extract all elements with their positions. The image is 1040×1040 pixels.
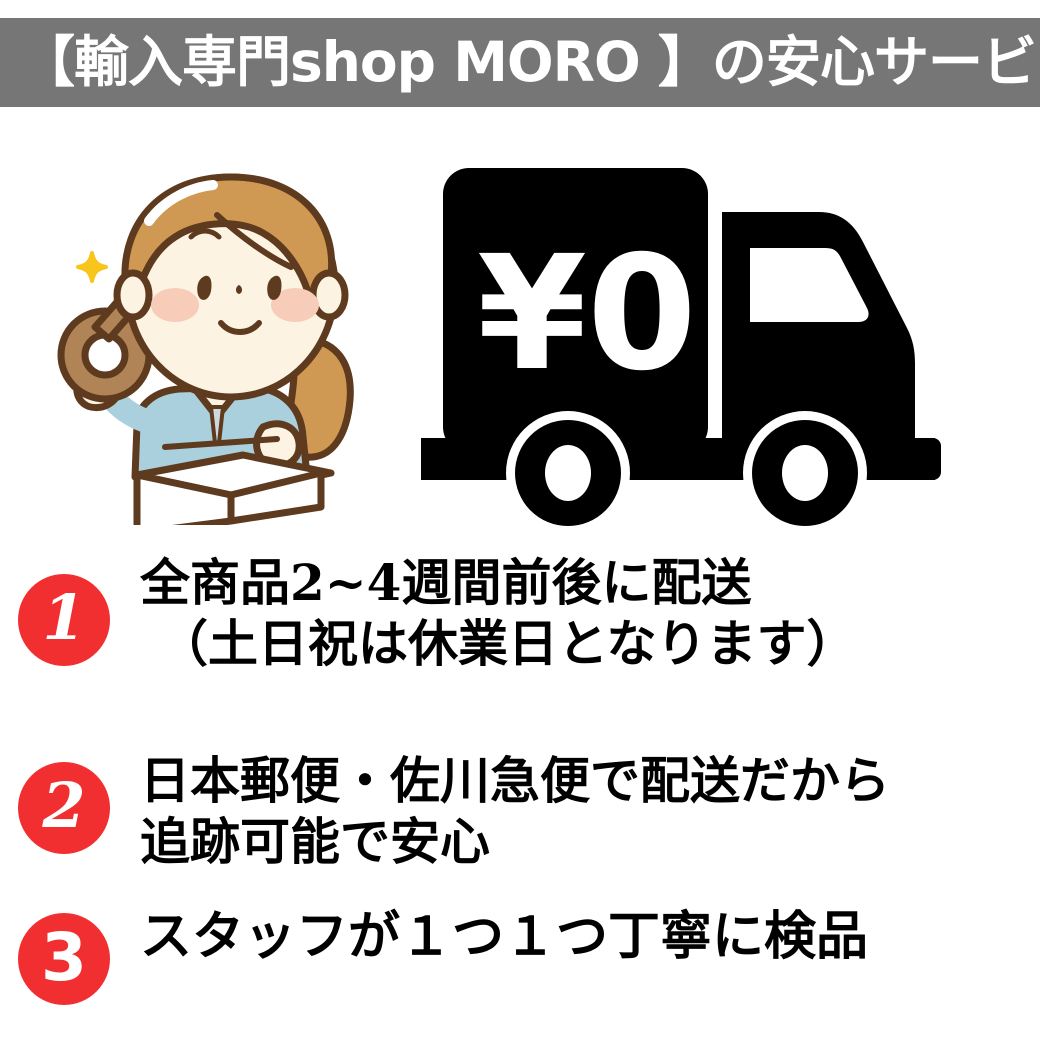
- feature-badge-1: 1: [18, 574, 110, 666]
- badge-number-2: 2: [42, 775, 85, 837]
- magnifier-lens: [85, 335, 125, 375]
- header-banner: 【輸入専門shop MORO 】の安心サービス: [0, 18, 1040, 107]
- feature-line: スタッフが１つ１つ丁寧に検品: [140, 905, 1030, 968]
- feature-text-2: 日本郵便・佐川急便で配送だから 追跡可能で安心: [140, 750, 1030, 872]
- feature-text-3: スタッフが１つ１つ丁寧に検品: [140, 905, 1030, 968]
- staff-illustration: [45, 155, 405, 525]
- feature-badge-2: 2: [18, 762, 110, 854]
- left-ear: [117, 273, 149, 317]
- feature-text-1: 全商品2~4週間前後に配送 （土日祝は休業日となります）: [140, 552, 1030, 674]
- truck-price-label: ¥0: [477, 222, 697, 406]
- badge-number-1: 1: [42, 587, 85, 649]
- front-hub: [782, 445, 828, 501]
- staff-illustration-svg: [45, 155, 405, 525]
- left-cheek: [151, 288, 199, 322]
- tie: [211, 407, 223, 443]
- feature-badge-3: 3: [18, 913, 110, 1005]
- free-shipping-truck: ¥0: [415, 150, 1015, 530]
- badge-circle-2: 2: [18, 762, 110, 854]
- badge-circle-1: 1: [18, 574, 110, 666]
- feature-line: （土日祝は休業日となります）: [158, 613, 1030, 674]
- banner-title: 【輸入専門shop MORO 】の安心サービス: [20, 35, 1040, 90]
- sparkle-icon: [78, 253, 106, 281]
- feature-line: 日本郵便・佐川急便で配送だから: [140, 750, 1030, 811]
- truck-svg: ¥0: [415, 150, 1015, 530]
- badge-circle-3: 3: [18, 913, 110, 1005]
- promo-banner-page: 【輸入専門shop MORO 】の安心サービス: [0, 0, 1040, 1040]
- feature-line: 追跡可能で安心: [140, 811, 1030, 872]
- feature-line: 全商品2~4週間前後に配送: [140, 552, 1030, 613]
- rear-hub: [545, 445, 591, 501]
- front-bumper: [911, 438, 941, 480]
- right-ear: [313, 273, 345, 317]
- badge-number-3: 3: [41, 925, 87, 991]
